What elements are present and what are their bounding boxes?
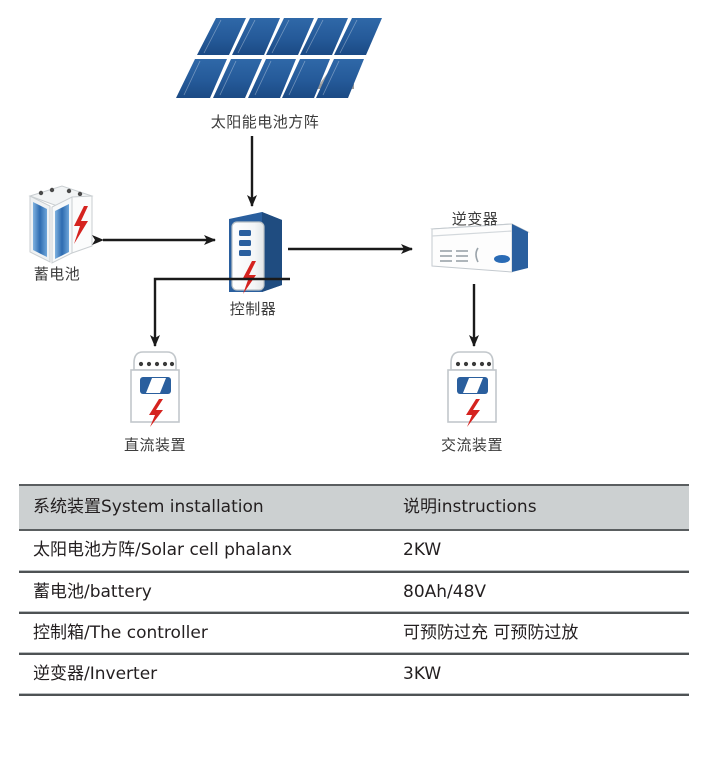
label-battery: 蓄电池 <box>12 263 102 284</box>
dc-appliance-icon <box>131 352 179 427</box>
table-header-row: 系统装置System installation 说明instructions <box>19 485 689 530</box>
table-row: 蓄电池/battery 80Ah/48V <box>19 572 689 613</box>
cell-spec: 2KW <box>389 530 689 571</box>
table-row: 控制箱/The controller 可预防过充 可预防过放 <box>19 613 689 654</box>
diagram-canvas <box>0 0 708 480</box>
charge-controller-icon <box>229 212 282 294</box>
spec-table-wrapper: 系统装置System installation 说明instructions 太… <box>0 484 708 769</box>
cell-device: 控制箱/The controller <box>19 613 389 654</box>
table-row: 太阳电池方阵/Solar cell phalanx 2KW <box>19 530 689 571</box>
column-header-instructions: 说明instructions <box>389 485 689 530</box>
label-controller: 控制器 <box>214 298 292 319</box>
label-solar-array: 太阳能电池方阵 <box>195 111 335 132</box>
label-inverter: 逆变器 <box>436 208 514 229</box>
cell-spec: 可预防过充 可预防过放 <box>389 613 689 654</box>
solar-panel-array-icon <box>176 18 382 98</box>
ac-appliance-icon <box>448 352 496 427</box>
label-dc-load: 直流装置 <box>103 434 207 455</box>
solar-system-diagram: 太阳能电池方阵 蓄电池 控制器 逆变器 直流装置 交流装置 <box>0 0 708 480</box>
inverter-icon <box>432 224 528 272</box>
column-header-device: 系统装置System installation <box>19 485 389 530</box>
table-row: 逆变器/Inverter 3KW <box>19 654 689 695</box>
system-spec-table: 系统装置System installation 说明instructions 太… <box>19 484 689 696</box>
cell-device: 逆变器/Inverter <box>19 654 389 695</box>
label-ac-load: 交流装置 <box>420 434 524 455</box>
cell-device: 太阳电池方阵/Solar cell phalanx <box>19 530 389 571</box>
cell-device: 蓄电池/battery <box>19 572 389 613</box>
cell-spec: 3KW <box>389 654 689 695</box>
battery-bank-icon <box>30 186 92 263</box>
cell-spec: 80Ah/48V <box>389 572 689 613</box>
